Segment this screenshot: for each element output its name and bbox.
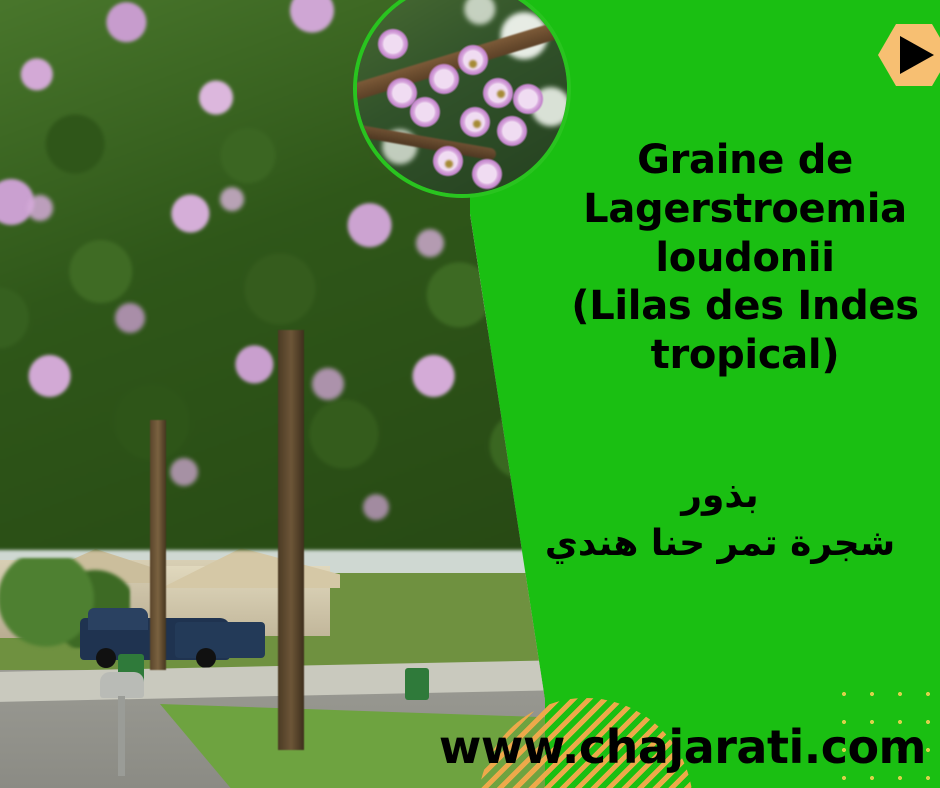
photo-tree-trunk-secondary [150, 420, 166, 670]
poster-canvas: Graine de Lagerstroemia loudonii (Lilas … [0, 0, 940, 788]
photo-tree-trunk [278, 330, 304, 750]
photo-truck-wheel [196, 648, 216, 668]
play-icon[interactable] [900, 36, 934, 74]
title-line-2: Lagerstroemia [560, 185, 930, 234]
photo-truck-wheel [96, 648, 116, 668]
inset-flower [373, 24, 413, 64]
inset-flower-center [469, 60, 477, 68]
inset-flower-center [473, 120, 481, 128]
photo-trash-bin [405, 668, 429, 700]
arabic-subtitle: بذور شجرة تمر حنا هندي [510, 472, 930, 568]
photo-mailbox [100, 672, 144, 698]
website-url[interactable]: www.chajarati.com [0, 720, 940, 774]
title-line-1: Graine de [560, 136, 930, 185]
photo-truck-cab [88, 608, 148, 630]
title-line-4: (Lilas des Indes [560, 282, 930, 331]
arabic-line-2: شجرة تمر حنا هندي [510, 520, 930, 568]
inset-photo-circle [353, 0, 571, 198]
inset-flower [505, 76, 551, 122]
page-title: Graine de Lagerstroemia loudonii (Lilas … [560, 136, 930, 380]
inset-flower [463, 150, 511, 198]
title-line-3: loudonii [560, 234, 930, 283]
inset-flower-center [497, 90, 505, 98]
photo-second-vehicle [175, 622, 265, 658]
arabic-line-1: بذور [510, 472, 930, 520]
inset-flower-center [445, 160, 453, 168]
title-line-5: tropical) [560, 331, 930, 380]
